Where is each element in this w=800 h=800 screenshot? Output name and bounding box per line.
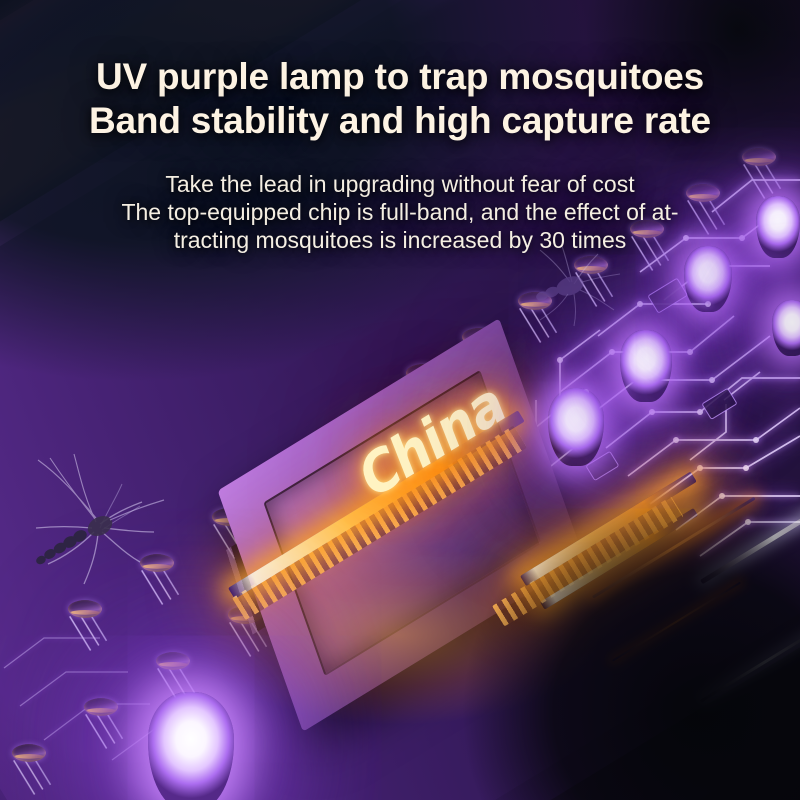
led-bottom-left (148, 692, 234, 800)
product-banner: China (0, 0, 800, 800)
dark-region-bottom-right (420, 460, 800, 800)
circuit-board-scene: China (0, 0, 800, 800)
dark-region-top-left (0, 0, 640, 400)
led-right-a (684, 246, 732, 312)
